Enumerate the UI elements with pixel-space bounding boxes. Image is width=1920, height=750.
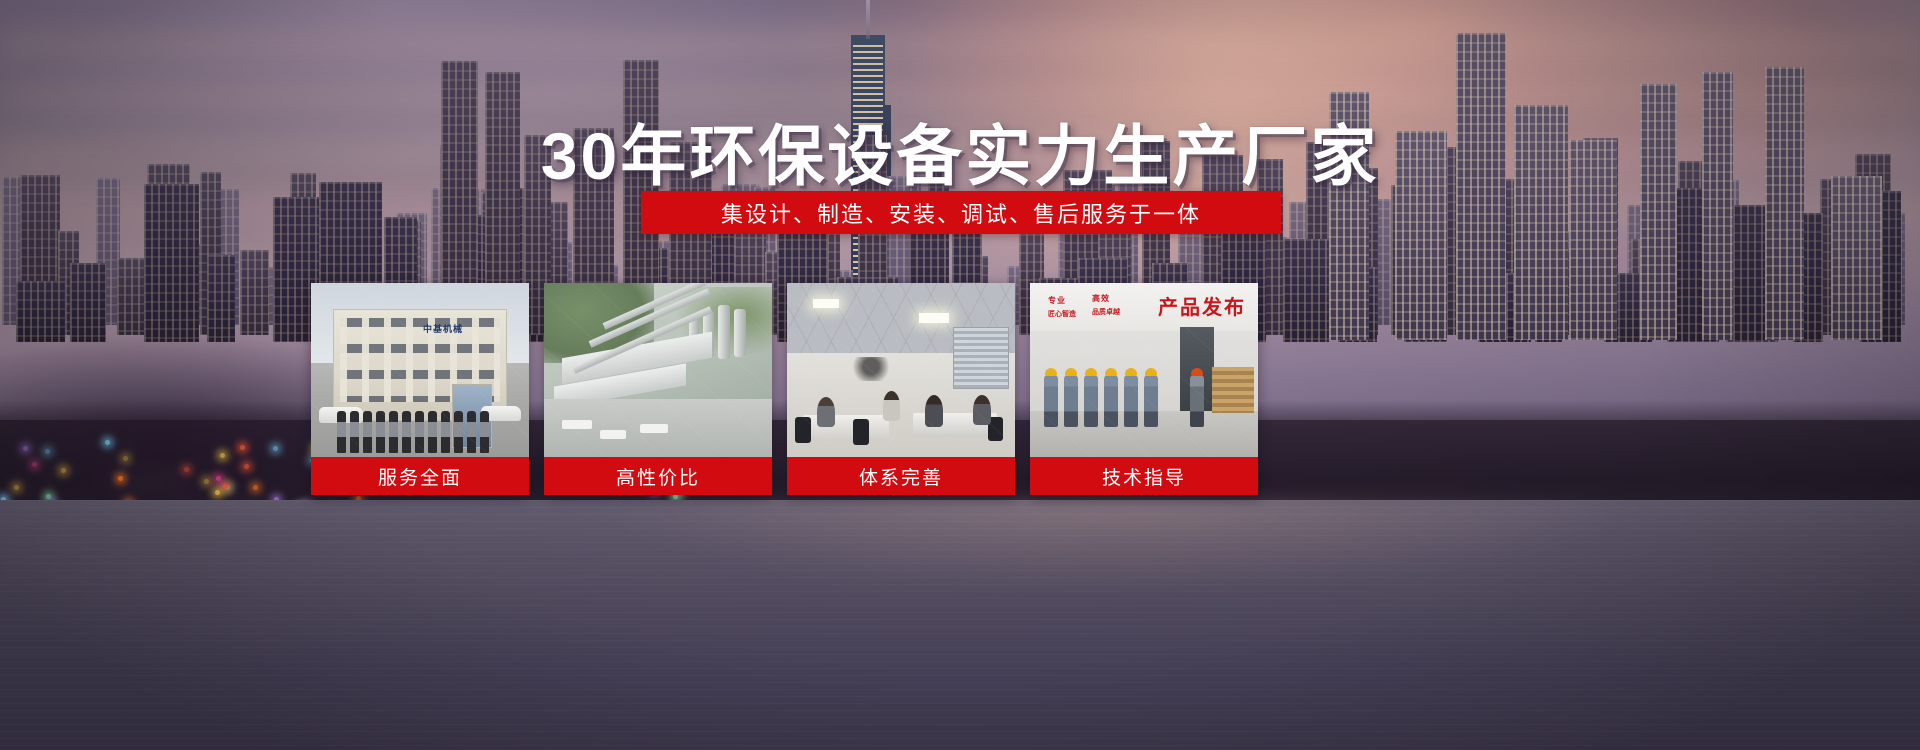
- feature-card-list: 中基机械 服务全面: [311, 283, 1611, 495]
- card-caption: 体系完善: [787, 457, 1015, 495]
- feature-card[interactable]: 高性价比: [544, 283, 772, 495]
- card-caption: 技术指导: [1030, 457, 1258, 495]
- card-photo-office-building: 中基机械: [311, 283, 529, 457]
- subtitle-text: 集设计、制造、安装、调试、售后服务于一体: [721, 197, 1201, 229]
- workshop-banner-text: 产品发布: [1158, 291, 1246, 320]
- card-caption: 服务全面: [311, 457, 529, 495]
- card-caption: 高性价比: [544, 457, 772, 495]
- page-title: 30年环保设备实力生产厂家: [0, 103, 1920, 199]
- subtitle-badge: 集设计、制造、安装、调试、售后服务于一体: [641, 191, 1281, 234]
- promo-banner: 30年环保设备实力生产厂家 集设计、制造、安装、调试、售后服务于一体 中基机械: [0, 0, 1920, 750]
- card-photo-office-team: [787, 283, 1015, 457]
- banner-content: 30年环保设备实力生产厂家 集设计、制造、安装、调试、售后服务于一体 中基机械: [0, 0, 1920, 750]
- building-sign-text: 中基机械: [400, 322, 486, 335]
- feature-card[interactable]: 中基机械 服务全面: [311, 283, 529, 495]
- staff-lineup: [337, 411, 507, 453]
- feature-card[interactable]: 产品发布 专业 高效 匠心智造 品质卓越 技: [1030, 283, 1258, 495]
- card-photo-factory-aerial: [544, 283, 772, 457]
- feature-card[interactable]: 体系完善: [787, 283, 1015, 495]
- card-photo-workshop-workers: 产品发布 专业 高效 匠心智造 品质卓越: [1030, 283, 1258, 457]
